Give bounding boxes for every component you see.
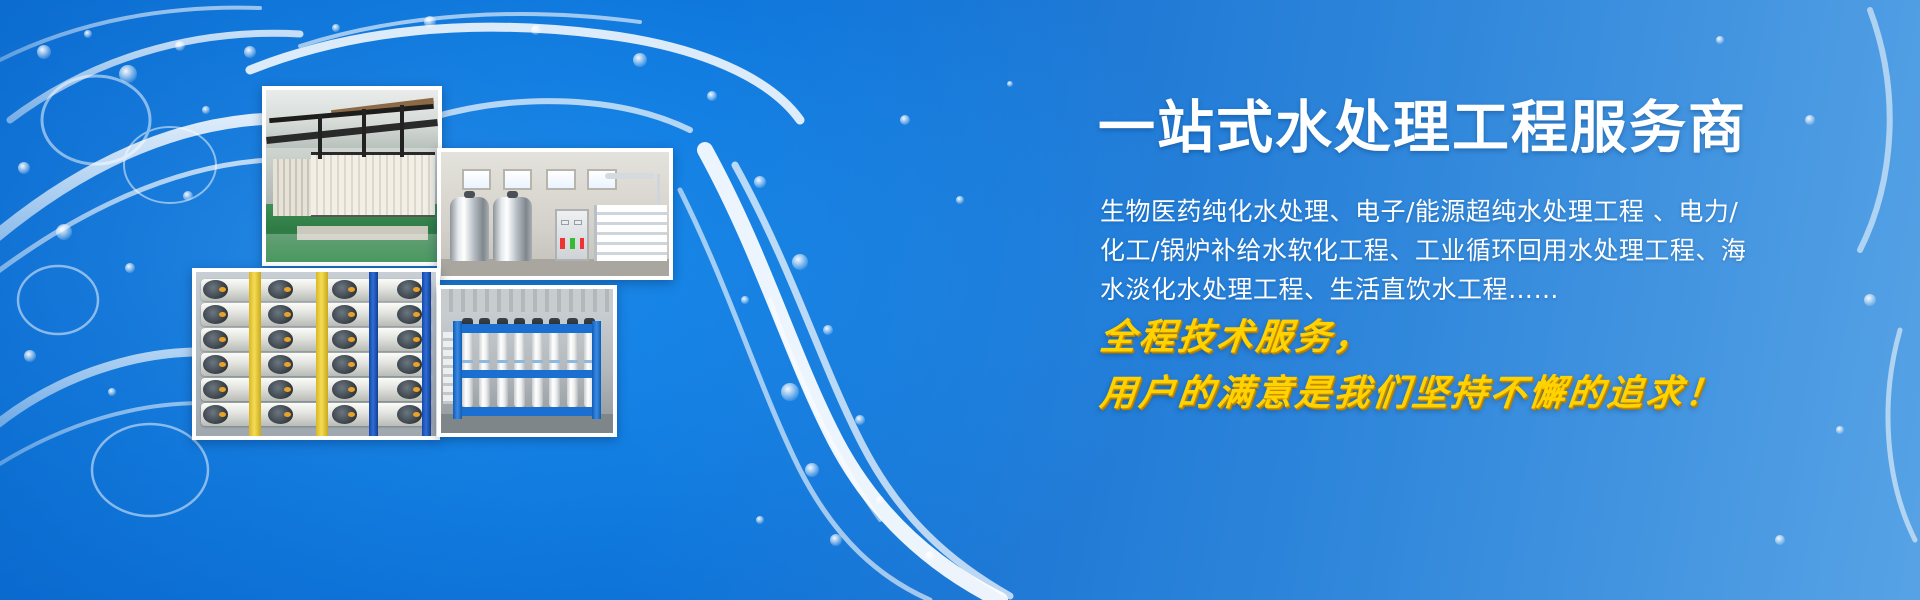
service-line-1: 生物医药纯化水处理、电子/能源超纯水处理工程 、电力/: [1100, 192, 1800, 231]
uf-cartridge: [497, 328, 508, 407]
uf-cartridge: [479, 328, 490, 407]
uf-cartridge: [567, 328, 578, 407]
photo-uf-membrane-hall: [262, 86, 442, 266]
service-description: 生物医药纯化水处理、电子/能源超纯水处理工程 、电力/ 化工/锅炉补给水软化工程…: [1100, 192, 1800, 309]
photo-ro-membrane-array: [192, 268, 440, 440]
slogan-block: 全程技术服务， 用户的满意是我们坚持不懈的追求！: [1100, 312, 1724, 418]
photo-uf-skid-blue-frame: [437, 285, 617, 437]
photo-collage: [0, 0, 800, 600]
uf-cartridge: [549, 328, 560, 407]
slogan-line-1: 全程技术服务，: [1097, 312, 1726, 362]
slogan-line-2: 用户的满意是我们坚持不懈的追求！: [1097, 368, 1726, 418]
uf-cartridge: [532, 328, 543, 407]
uf-cartridge: [514, 328, 525, 407]
service-line-3: 水淡化水处理工程、生活直饮水工程……: [1100, 270, 1800, 309]
hero-banner: 一站式水处理工程服务商 生物医药纯化水处理、电子/能源超纯水处理工程 、电力/ …: [0, 0, 1920, 600]
photo-stainless-tanks-ro: [437, 148, 673, 280]
uf-cartridge: [462, 328, 473, 407]
page-title: 一站式水处理工程服务商: [1098, 100, 1747, 157]
banner-text-block: 一站式水处理工程服务商 生物医药纯化水处理、电子/能源超纯水处理工程 、电力/ …: [1098, 0, 1858, 600]
service-line-2: 化工/锅炉补给水软化工程、工业循环回用水处理工程、海: [1100, 231, 1800, 270]
